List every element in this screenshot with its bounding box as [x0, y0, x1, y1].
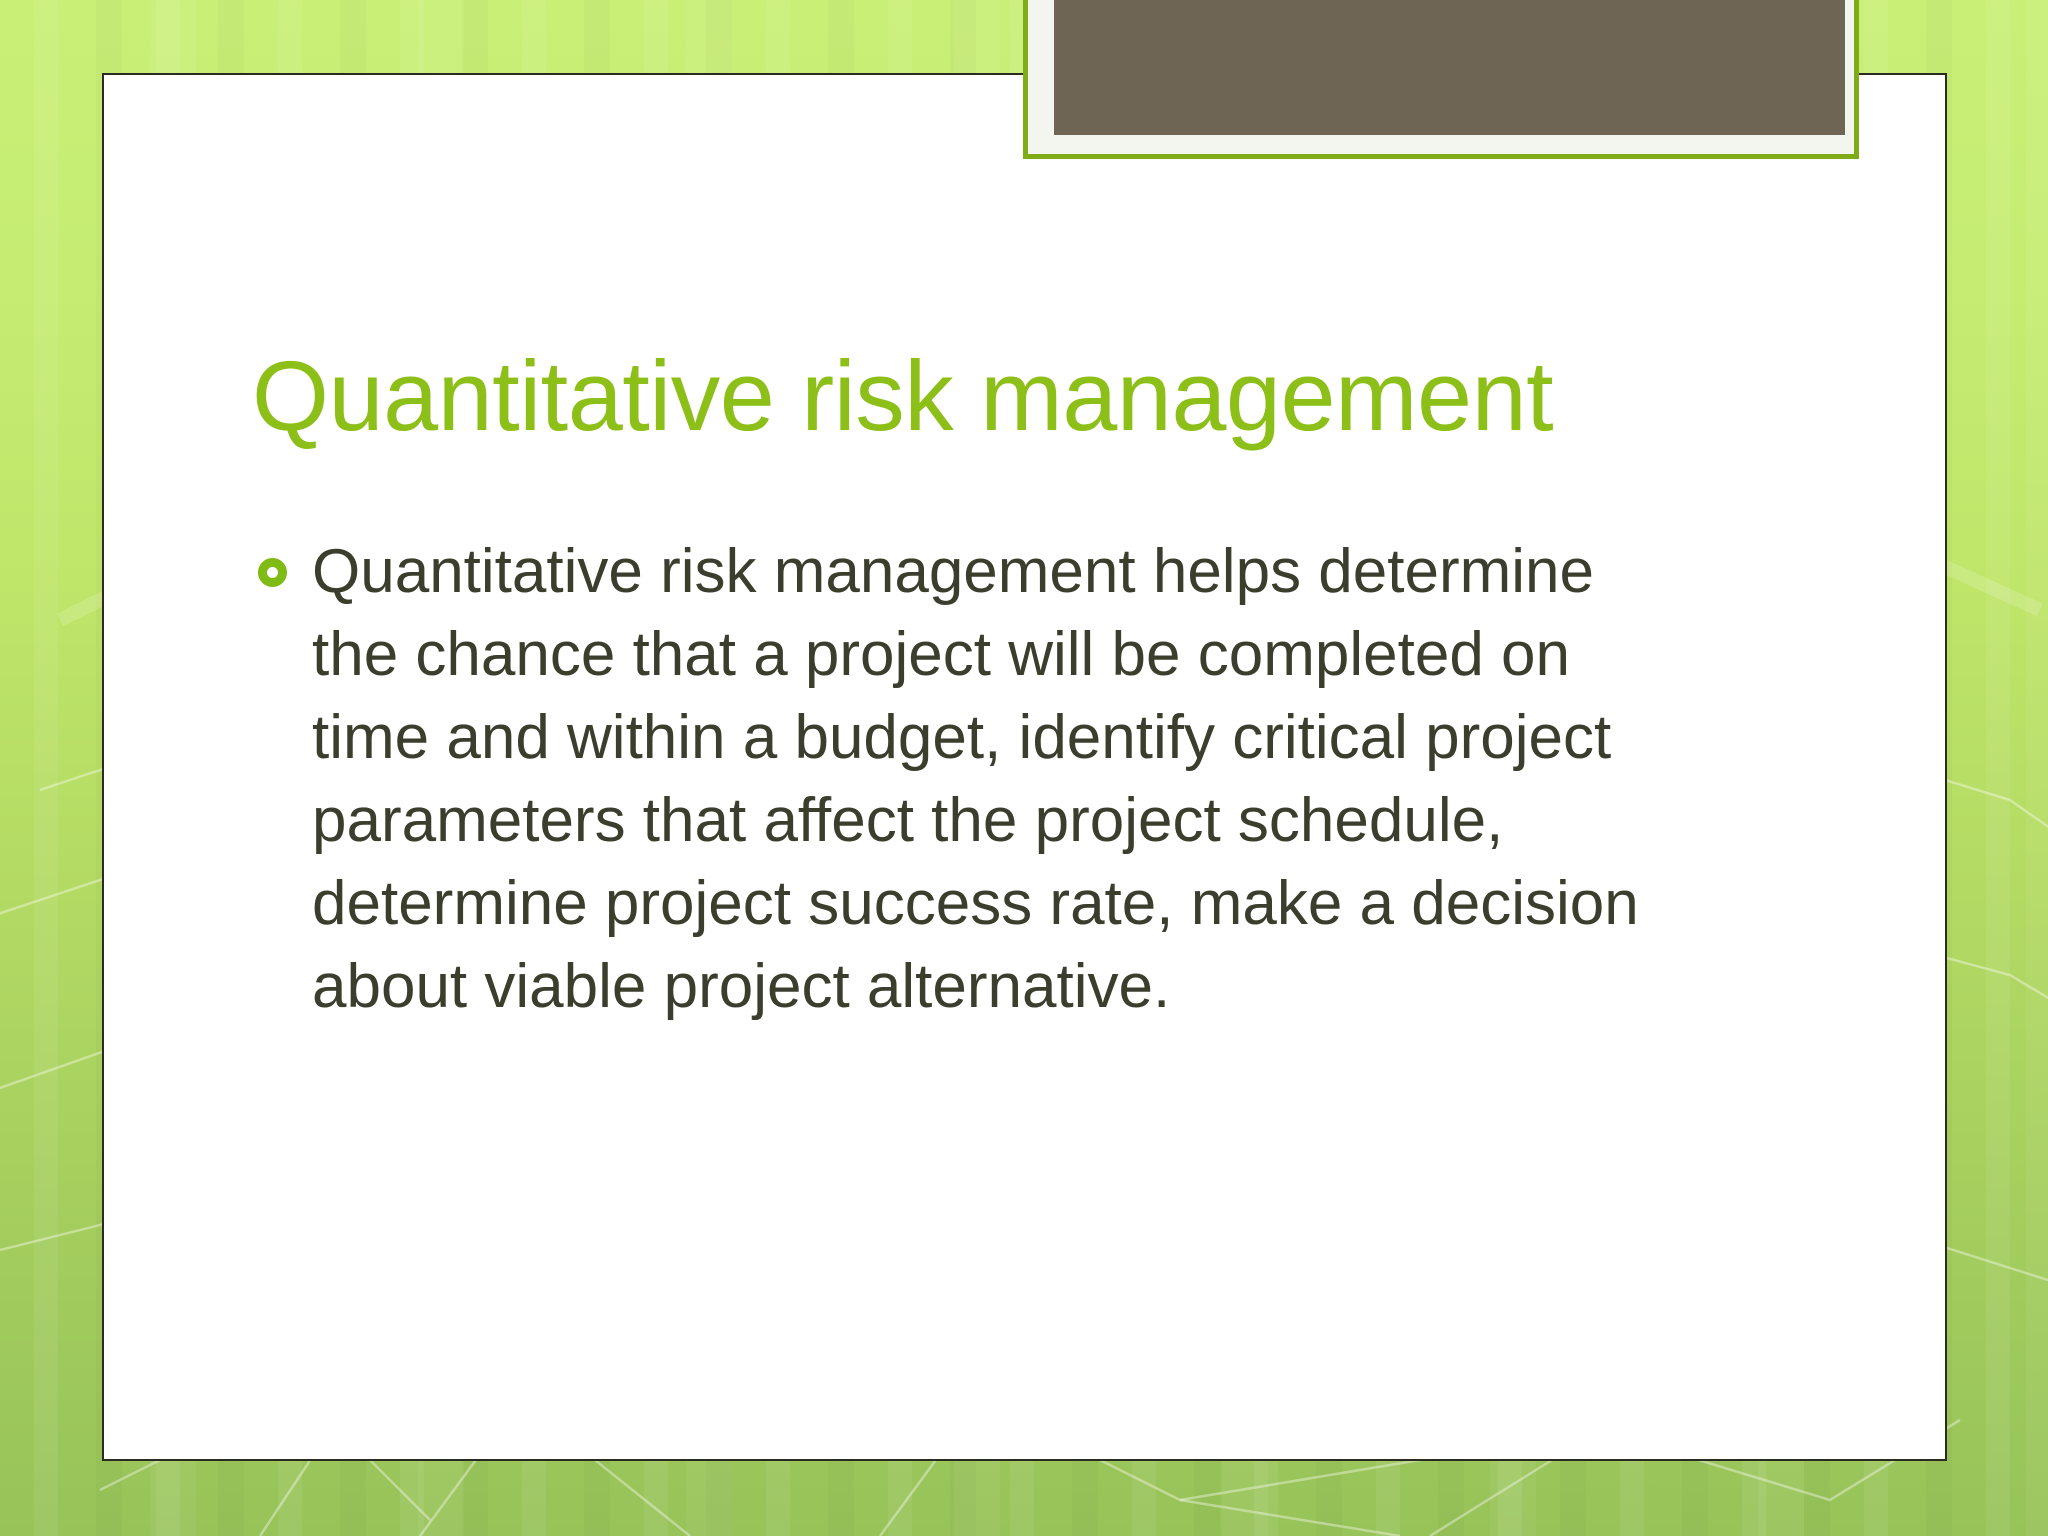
decorative-top-banner — [1023, 0, 1859, 159]
slide-title: Quantitative risk management — [252, 344, 1812, 449]
slide-body: Quantitative risk management helps deter… — [258, 530, 1738, 1028]
banner-fill — [1054, 0, 1845, 135]
list-item: Quantitative risk management helps deter… — [258, 530, 1738, 1028]
presentation-slide: Quantitative risk management Quantitativ… — [0, 0, 2048, 1536]
bullet-item-text: Quantitative risk management helps deter… — [312, 530, 1682, 1028]
bullet-ring-icon — [258, 558, 287, 587]
